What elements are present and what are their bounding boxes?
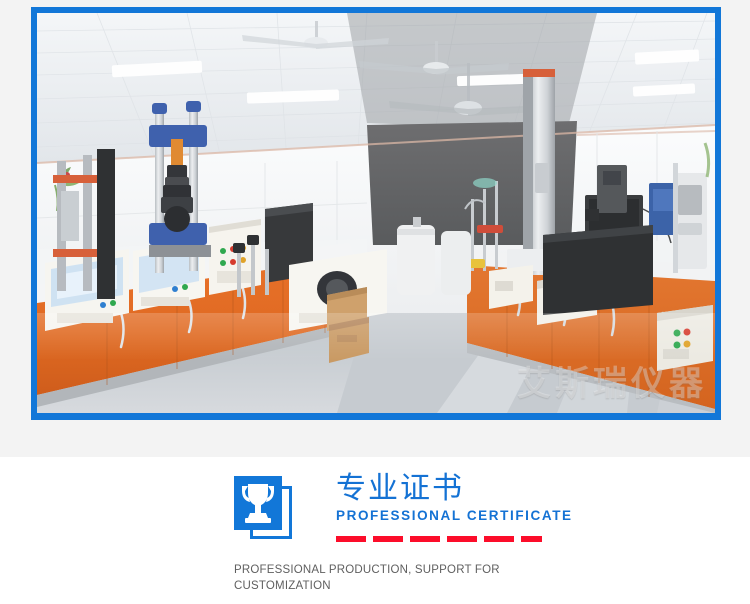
dash-2 — [373, 536, 403, 542]
lab-photo: 艾斯瑞仪器 — [37, 13, 715, 413]
trophy-icon — [239, 481, 277, 525]
certificate-block: 专业证书 PROFESSIONAL CERTIFICATE PROFESSION… — [234, 472, 714, 602]
dash-3 — [410, 536, 440, 542]
certificate-titles: 专业证书 PROFESSIONAL CERTIFICATE — [336, 472, 573, 523]
dash-4 — [447, 536, 477, 542]
certificate-caption: PROFESSIONAL PRODUCTION, SUPPORT FOR CUS… — [234, 562, 534, 594]
lab-photo-frame: 艾斯瑞仪器 — [31, 7, 721, 420]
certificate-header: 专业证书 PROFESSIONAL CERTIFICATE — [234, 472, 714, 540]
dash-1 — [336, 536, 366, 542]
red-dash-divider — [336, 536, 542, 542]
dash-6 — [521, 536, 542, 542]
lab-photo-illustration — [37, 13, 715, 413]
certificate-title-en: PROFESSIONAL CERTIFICATE — [336, 508, 573, 523]
trophy-badge — [234, 474, 292, 540]
dash-5 — [484, 536, 514, 542]
certificate-title-cn: 专业证书 — [336, 472, 573, 506]
